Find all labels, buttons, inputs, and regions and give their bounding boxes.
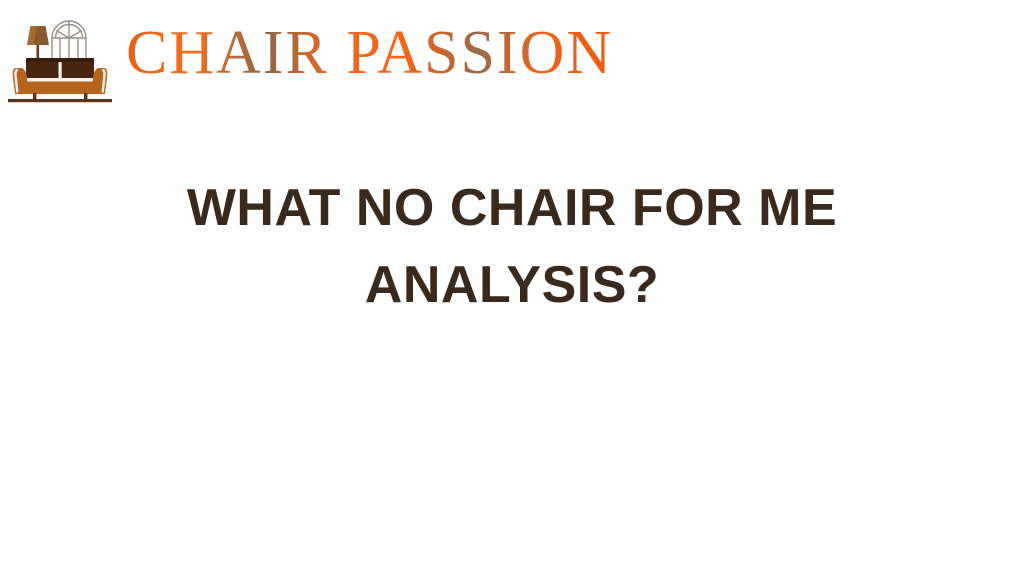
brand-header[interactable]: CHAIR PASSION xyxy=(8,8,613,104)
armchair-lamp-window-logo-icon xyxy=(8,8,112,104)
page-title: WHAT NO CHAIR FOR ME ANALYSIS? xyxy=(132,170,892,324)
page-canvas: CHAIR PASSION WHAT NO CHAIR FOR ME ANALY… xyxy=(0,0,1024,576)
headline-block: WHAT NO CHAIR FOR ME ANALYSIS? xyxy=(0,170,1024,324)
brand-wordmark: CHAIR PASSION xyxy=(126,22,613,90)
